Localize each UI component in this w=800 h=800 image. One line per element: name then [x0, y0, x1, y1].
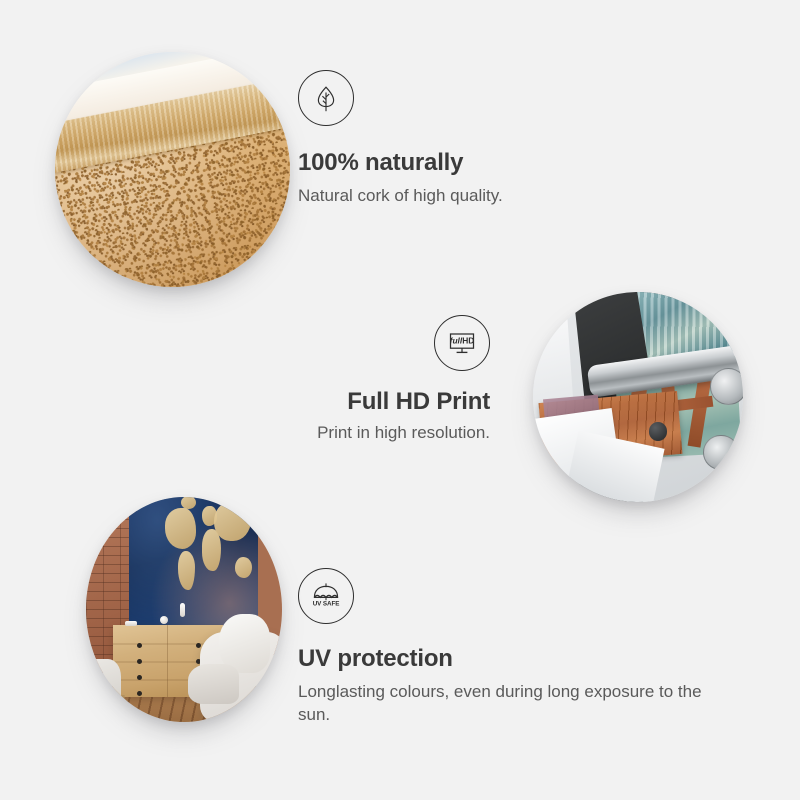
dresser-decor-tray	[125, 621, 137, 626]
cork-texture-photo	[55, 52, 290, 287]
feature-description: Print in high resolution.	[200, 422, 490, 445]
leaf-icon	[298, 70, 354, 126]
feature-title: Full HD Print	[200, 389, 490, 415]
armchair-arm	[188, 664, 239, 705]
feature-title: UV protection	[298, 646, 702, 672]
feature-uv: UV SAFE UV protection Longlasting colour…	[298, 568, 702, 727]
dresser-knob	[196, 643, 201, 648]
dresser-knob	[137, 691, 142, 696]
printing-machine-photo	[533, 292, 743, 502]
svg-text:UV SAFE: UV SAFE	[313, 601, 340, 608]
printer-roller-cap-bottom	[703, 435, 739, 471]
dresser-knob	[137, 659, 142, 664]
map-continent-asia	[214, 502, 250, 542]
fullhd-monitor-icon: fullHD	[434, 315, 490, 371]
dresser-knob	[137, 675, 142, 680]
svg-text:fullHD: fullHD	[450, 336, 475, 346]
feature-natural: 100% naturally Natural cork of high qual…	[298, 70, 628, 208]
feature-description: Natural cork of high quality.	[298, 185, 628, 208]
feature-fullhd: fullHD Full HD Print Print in high resol…	[200, 315, 490, 445]
fullhd-icon-wrap: fullHD	[200, 315, 490, 371]
feature-description: Longlasting colours, even during long ex…	[298, 681, 702, 727]
armchair-left	[86, 659, 121, 718]
map-continent-south-america	[178, 551, 195, 591]
feature-title: 100% naturally	[298, 150, 628, 176]
dresser-decor-figurine	[180, 603, 185, 617]
printer-roller-cap-top	[710, 368, 744, 406]
map-continent-australia	[235, 557, 252, 578]
world-map-room-photo	[86, 497, 282, 722]
uv-safe-umbrella-icon: UV SAFE	[298, 568, 354, 624]
feature-highlights-page: 100% naturally Natural cork of high qual…	[0, 0, 800, 800]
map-continent-north-america	[165, 508, 196, 549]
